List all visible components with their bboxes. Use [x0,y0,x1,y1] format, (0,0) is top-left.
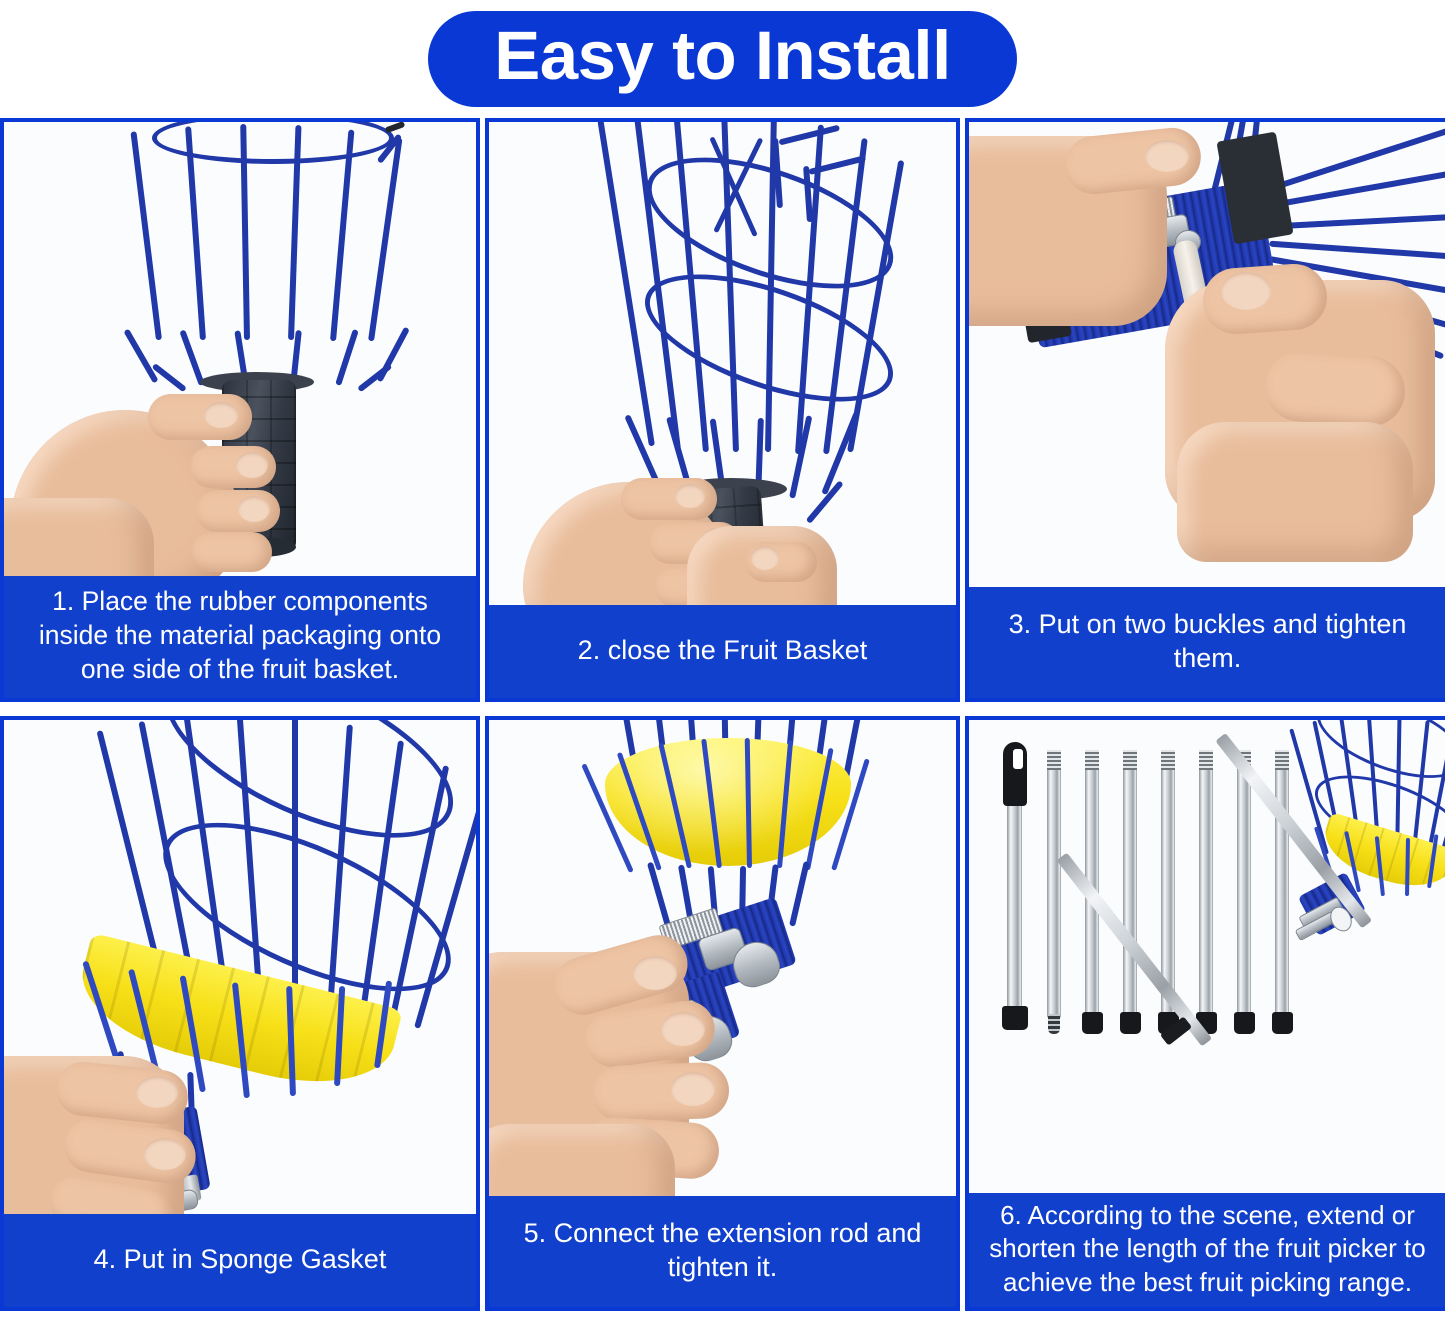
page-title: Easy to Install [428,11,1017,108]
step-5-caption: 5. Connect the extension rod and tighten… [489,1196,956,1307]
step-panel-4: 4. Put in Sponge Gasket [0,716,480,1311]
page-header: Easy to Install [0,0,1445,118]
handle-rod [1007,792,1022,1020]
step-4-photo [4,720,476,1214]
step-2-photo [489,122,956,605]
step-1-caption: 1. Place the rubber components inside th… [4,576,476,698]
steps-grid: 1. Place the rubber components inside th… [0,118,1445,1311]
step-panel-5: 5. Connect the extension rod and tighten… [485,716,960,1311]
step-3-caption: 3. Put on two buckles and tighten them. [969,587,1445,698]
step-panel-3: 3. Put on two buckles and tighten them. [965,118,1445,702]
step-panel-1: 1. Place the rubber components inside th… [0,118,480,702]
step-3-photo [969,122,1445,587]
step-5-photo [489,720,956,1196]
step-4-caption: 4. Put in Sponge Gasket [4,1214,476,1307]
step-6-photo [969,720,1445,1193]
step-panel-2: 2. close the Fruit Basket [485,118,960,702]
step-1-photo [4,122,476,576]
step-6-caption: 6. According to the scene, extend or sho… [969,1193,1445,1307]
step-panel-6: 6. According to the scene, extend or sho… [965,716,1445,1311]
step-2-caption: 2. close the Fruit Basket [489,605,956,698]
